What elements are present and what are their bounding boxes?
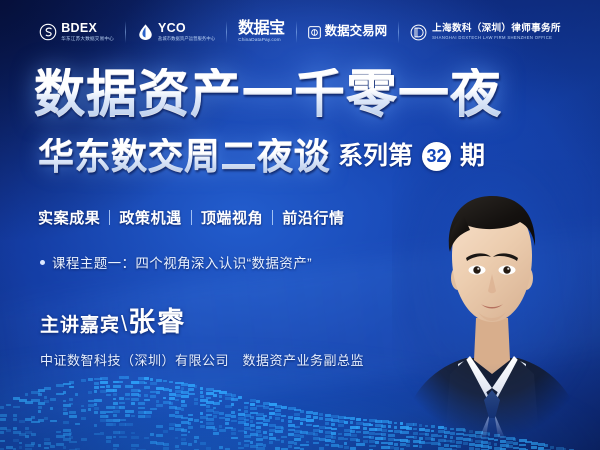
logo-chinadatapay[interactable]: 数据宝 ChinaDataPay.com: [227, 15, 296, 49]
logo-yco-subtitle: 盐城市数据资产运营服务中心: [158, 37, 215, 42]
speaker-portrait: [392, 160, 592, 450]
logo-yco[interactable]: YCO 盐城市数据资产运营服务中心: [126, 15, 226, 49]
logo-law-firm-name: 上海数科（深圳）律师事务所: [432, 24, 561, 34]
tagline-item-3: 前沿行情: [282, 207, 344, 228]
course-topic-text: 课程主题一：四个视角深入认识“数据资产”: [52, 252, 312, 272]
bullet-dot-icon: [40, 260, 45, 265]
yco-droplet-logo-icon: [137, 23, 154, 41]
digital-pixel-wave: [0, 320, 600, 450]
tagline-item-1: 政策机遇: [119, 207, 181, 228]
speaker-affiliation: 中证数智科技（深圳）有限公司 数据资产业务副总监: [40, 350, 364, 369]
logo-bdex-name: BDEX: [61, 22, 114, 35]
tagline-divider: [109, 210, 110, 225]
webinar-poster: BDEX 华东江苏大数据交易中心 YCO 盐城市数据资产运营服务中心 数据宝 C…: [0, 0, 600, 450]
series-prefix-label: 系列第: [338, 144, 413, 169]
logo-chinadatapay-name: 数据宝: [238, 21, 285, 38]
poster-subtitle-row: 华东数交周二夜谈 系列第 32 期: [38, 138, 485, 174]
series-number-badge: 32: [422, 142, 451, 171]
logo-bdex-subtitle: 华东江苏大数据交易中心: [61, 37, 114, 42]
tagline-row: 实案成果 政策机遇 顶端视角 前沿行情: [38, 207, 345, 228]
logo-data-exchange-name: 数据交易网: [325, 25, 388, 38]
bdex-swirl-logo-icon: [39, 23, 57, 41]
logo-chinadatapay-subtitle: ChinaDataPay.com: [238, 38, 285, 43]
law-firm-seal-logo-icon: [410, 24, 427, 41]
logo-law-firm[interactable]: 上海数科（深圳）律师事务所 SHANGHAI DGXTECH LAW FIRM …: [399, 15, 572, 49]
logo-law-firm-subtitle: SHANGHAI DGXTECH LAW FIRM SHENZHEN OFFIC…: [432, 36, 561, 40]
partner-logo-bar: BDEX 华东江苏大数据交易中心 YCO 盐城市数据资产运营服务中心 数据宝 C…: [0, 14, 600, 50]
speaker-portrait-illustration: [392, 160, 592, 450]
logo-yco-name: YCO: [158, 22, 215, 35]
course-topic-row: 课程主题一：四个视角深入认识“数据资产”: [40, 252, 312, 272]
speaker-label: 主讲嘉宾: [40, 310, 120, 337]
poster-main-title: 数据资产一千零一夜: [34, 68, 502, 119]
tagline-divider: [191, 210, 192, 225]
speaker-row: 主讲嘉宾 \ 张睿: [40, 300, 186, 339]
logo-data-exchange[interactable]: 数据交易网: [297, 15, 399, 49]
speaker-separator: \: [121, 311, 127, 337]
series-suffix-label: 期: [460, 144, 485, 169]
speaker-name: 张睿: [128, 300, 186, 339]
poster-subtitle: 华东数交周二夜谈: [38, 138, 330, 174]
logo-bdex[interactable]: BDEX 华东江苏大数据交易中心: [28, 15, 125, 49]
tagline-item-2: 顶端视角: [201, 207, 263, 228]
tagline-divider: [272, 210, 273, 225]
tagline-item-0: 实案成果: [38, 207, 100, 228]
data-exchange-square-logo-icon: [308, 26, 321, 39]
